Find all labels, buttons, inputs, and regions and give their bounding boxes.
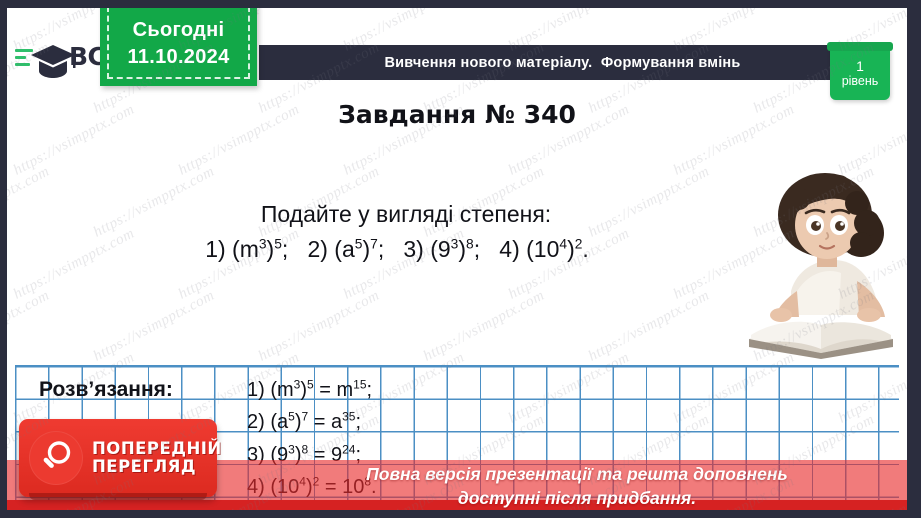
task-items: 1) (m3)5; 2) (a5)7; 3) (93)8; 4) (104)2. (117, 235, 677, 264)
watermark-text: https://vsimpptx.com (421, 287, 548, 365)
task-item: 1) (m3)5; (205, 236, 288, 262)
level-word: рівень (842, 75, 879, 89)
slide-canvas: ВСІМ pptx Сьогодні 11.10.2024 Вивчення н… (7, 8, 907, 510)
task-title: Завдання № 340 (7, 100, 907, 129)
slide-root: ВСІМ pptx Сьогодні 11.10.2024 Вивчення н… (0, 0, 921, 518)
level-tab: 1 рівень (830, 48, 890, 100)
solution-line: 2) (a5)7 = a35; (247, 406, 377, 438)
header-title-text: Вивчення нового матеріалу. Формування вм… (384, 55, 740, 71)
task-item: 2) (a5)7; (307, 236, 384, 262)
header-bar: Вивчення нового матеріалу. Формування вм… (259, 45, 866, 80)
level-number: 1 (856, 59, 864, 74)
graduation-cap-icon (15, 42, 67, 82)
magnifier-icon (29, 431, 83, 485)
date-badge-value: 11.10.2024 (128, 44, 230, 71)
watermark-text: https://vsimpptx.com (7, 287, 53, 365)
watermark-text: https://vsimpptx.com (586, 287, 713, 365)
girl-reading-book-illustration (733, 163, 907, 363)
preview-badge-text: ПОПЕРЕДНІЙ ПЕРЕГЛЯД (92, 440, 222, 477)
task-item: 3) (93)8; (403, 236, 480, 262)
preview-badge[interactable]: ПОПЕРЕДНІЙ ПЕРЕГЛЯД (19, 419, 217, 497)
solution-label: Розв’язання: (39, 378, 173, 402)
purchase-overlay-note: Повна версія презентації та решта доповн… (277, 463, 877, 510)
date-badge-label: Сьогодні (133, 17, 225, 44)
watermark-text: https://vsimpptx.com (7, 163, 53, 241)
solution-line: 1) (m3)5 = m15; (247, 374, 377, 406)
watermark-text: https://vsimpptx.com (91, 287, 218, 365)
task-item: 4) (104)2. (499, 236, 589, 262)
overlay-note-line2: доступні після придбання. (277, 487, 877, 510)
task-statement: Подайте у вигляді степеня: 1) (m3)5; 2) … (117, 200, 677, 264)
watermark-text: https://vsimpptx.com (256, 287, 383, 365)
preview-badge-line1: ПОПЕРЕДНІЙ (92, 440, 222, 458)
task-prompt: Подайте у вигляді степеня: (117, 200, 677, 229)
preview-badge-line2: ПЕРЕГЛЯД (92, 458, 222, 476)
today-date-badge: Сьогодні 11.10.2024 (100, 8, 257, 86)
overlay-note-line1: Повна версія презентації та решта доповн… (277, 463, 877, 487)
